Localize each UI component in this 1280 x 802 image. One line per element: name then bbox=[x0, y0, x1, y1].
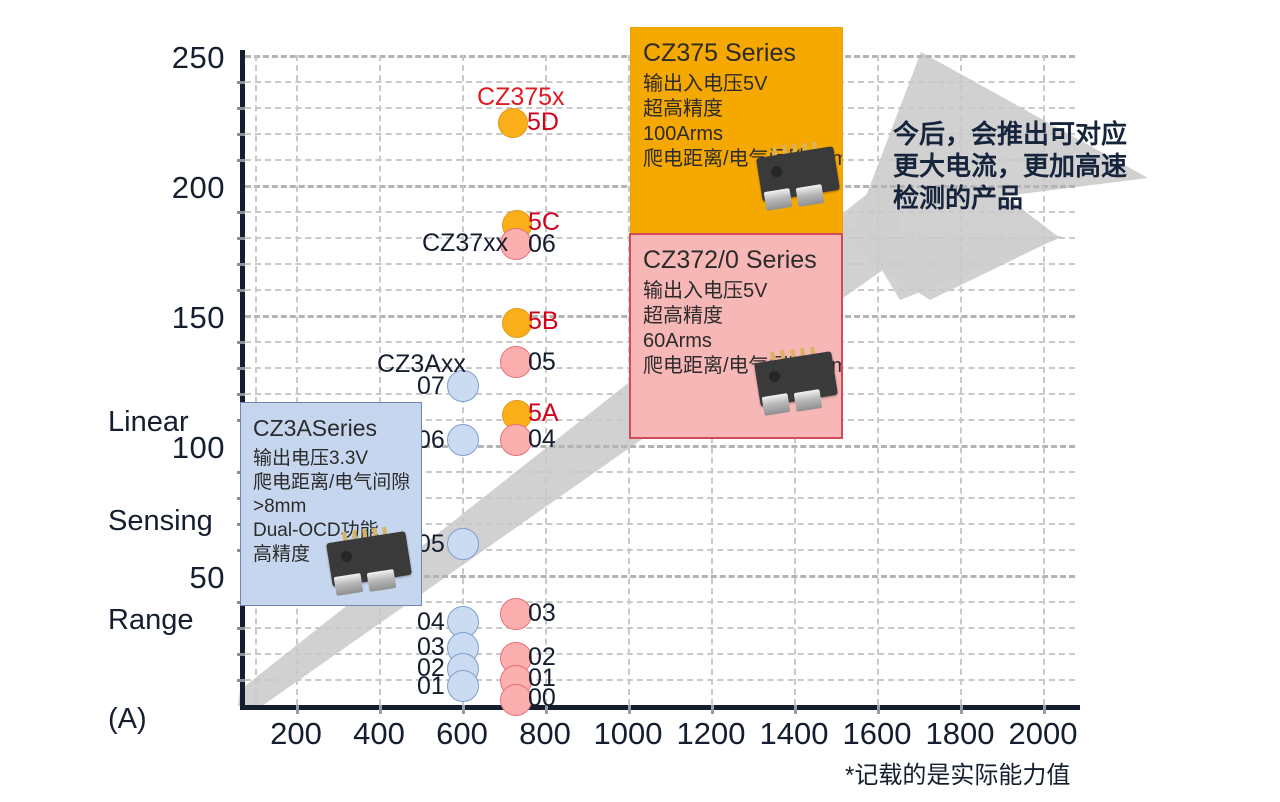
ytick-label-200: 200 bbox=[110, 170, 225, 206]
y-axis-title: Linear Sensing Range (A) bbox=[108, 340, 213, 802]
xtick-600 bbox=[462, 705, 465, 714]
ytick-20 bbox=[237, 653, 245, 656]
y-axis-title-line2: Sensing bbox=[108, 505, 213, 538]
xtick-200 bbox=[296, 705, 299, 714]
ytick-120 bbox=[237, 393, 245, 396]
gridline-x-125 bbox=[255, 55, 257, 705]
data-label-pink-00: 00 bbox=[528, 684, 556, 713]
data-label-blue-01: 01 bbox=[417, 672, 445, 701]
callout-cz375-title: CZ375 Series bbox=[643, 38, 842, 68]
data-point-5D[interactable] bbox=[498, 108, 528, 138]
arrow-annotation-line1: 今后，会推出可对应 bbox=[893, 118, 1143, 150]
callout-cz375[interactable]: CZ375 Series 输出入电压5V 超高精度 100Arms 爬电距离/电… bbox=[630, 27, 843, 234]
gridline-x-1625 bbox=[877, 55, 879, 705]
callout-cz375-line1: 输出入电压5V bbox=[643, 72, 842, 97]
callout-cz3a[interactable]: CZ3ASeries 输出电压3.3V 爬电距离/电气间隙 >8mm Dual-… bbox=[240, 402, 422, 606]
xtick-1800 bbox=[960, 705, 963, 714]
series-label-cz3axx: CZ3Axx bbox=[377, 350, 466, 379]
callout-cz3a-line2: 爬电距离/电气间隙 bbox=[253, 471, 421, 495]
ytick-160 bbox=[237, 289, 245, 292]
chip-image-cz3a bbox=[319, 525, 415, 603]
chip-image-cz372 bbox=[747, 345, 839, 423]
arrow-annotation-line3: 检测的产品 bbox=[893, 182, 1143, 214]
y-axis-title-line1: Linear bbox=[108, 406, 213, 439]
data-label-pink-04: 04 bbox=[528, 425, 556, 454]
arrow-annotation-line2: 更大电流，更加高速 bbox=[893, 150, 1143, 182]
ytick-210 bbox=[237, 159, 245, 162]
callout-cz3a-line3: >8mm bbox=[253, 495, 421, 519]
chip-image-cz375 bbox=[749, 140, 841, 218]
y-axis-title-line3: Range bbox=[108, 604, 213, 637]
data-label-5B: 5B bbox=[528, 307, 559, 336]
data-point-blue-05[interactable] bbox=[447, 528, 479, 560]
ytick-label-150: 150 bbox=[110, 300, 225, 336]
ytick-240 bbox=[237, 81, 245, 84]
xtick-label-2000: 2000 bbox=[993, 716, 1093, 752]
data-point-blue-06[interactable] bbox=[447, 424, 479, 456]
callout-cz372-title: CZ372/0 Series bbox=[643, 245, 841, 275]
arrow-annotation: 今后，会推出可对应 更大电流，更加高速 检测的产品 bbox=[893, 118, 1143, 214]
data-label-5D: 5D bbox=[527, 108, 559, 137]
ytick-140 bbox=[237, 341, 245, 344]
data-point-blue-01[interactable] bbox=[447, 670, 479, 702]
callout-cz372-line1: 输出入电压5V bbox=[643, 279, 841, 304]
ytick-170 bbox=[237, 263, 245, 266]
data-label-pink-06: 06 bbox=[528, 230, 556, 259]
ytick-10 bbox=[237, 679, 245, 682]
data-label-pink-05: 05 bbox=[528, 348, 556, 377]
gridline-x-225 bbox=[296, 55, 298, 705]
y-axis-title-line4: (A) bbox=[108, 703, 213, 736]
ytick-190 bbox=[237, 211, 245, 214]
callout-cz3a-line1: 输出电压3.3V bbox=[253, 447, 421, 471]
xtick-1400 bbox=[794, 705, 797, 714]
xtick-400 bbox=[379, 705, 382, 714]
gridline-x-425 bbox=[379, 55, 381, 705]
xtick-1000 bbox=[628, 705, 631, 714]
ytick-230 bbox=[237, 107, 245, 110]
x-axis-line bbox=[240, 705, 1080, 710]
ytick-30 bbox=[237, 627, 245, 630]
series-label-cz375x: CZ375x bbox=[477, 83, 565, 112]
gridline-y-10 bbox=[245, 679, 1075, 681]
ytick-130 bbox=[237, 367, 245, 370]
chart-canvas: 250 200 150 100 50 Linear Sensing Range … bbox=[0, 0, 1280, 800]
ytick-180 bbox=[237, 237, 245, 240]
ytick-label-250: 250 bbox=[110, 40, 225, 76]
xtick-2000 bbox=[1043, 705, 1046, 714]
callout-cz375-line2: 超高精度 bbox=[643, 97, 842, 122]
series-label-cz37xx: CZ37xx bbox=[422, 229, 508, 258]
footnote: *记载的是实际能力值 bbox=[845, 755, 1070, 790]
xtick-1600 bbox=[877, 705, 880, 714]
ytick-220 bbox=[237, 133, 245, 136]
data-label-pink-03: 03 bbox=[528, 599, 556, 628]
callout-cz372-line2: 超高精度 bbox=[643, 304, 841, 329]
data-label-5A: 5A bbox=[528, 399, 559, 428]
xtick-1200 bbox=[711, 705, 714, 714]
callout-cz372[interactable]: CZ372/0 Series 输出入电压5V 超高精度 60Arms 爬电距离/… bbox=[629, 233, 843, 439]
gridline-y-20 bbox=[245, 653, 1075, 655]
callout-cz3a-title: CZ3ASeries bbox=[253, 413, 421, 443]
gridline-y-30 bbox=[245, 627, 1075, 629]
